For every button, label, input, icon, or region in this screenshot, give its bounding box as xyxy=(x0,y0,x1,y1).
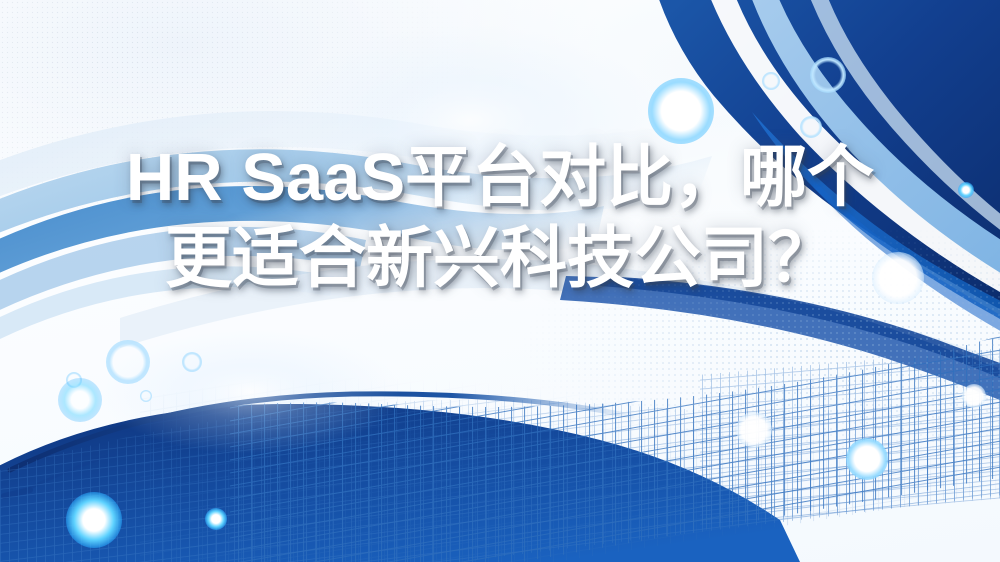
banner-canvas: HR SaaS平台对比，哪个更适合新兴科技公司？ xyxy=(0,0,1000,562)
banner-title: HR SaaS平台对比，哪个更适合新兴科技公司？ xyxy=(100,137,900,299)
title-block: HR SaaS平台对比，哪个更适合新兴科技公司？ xyxy=(100,137,900,299)
